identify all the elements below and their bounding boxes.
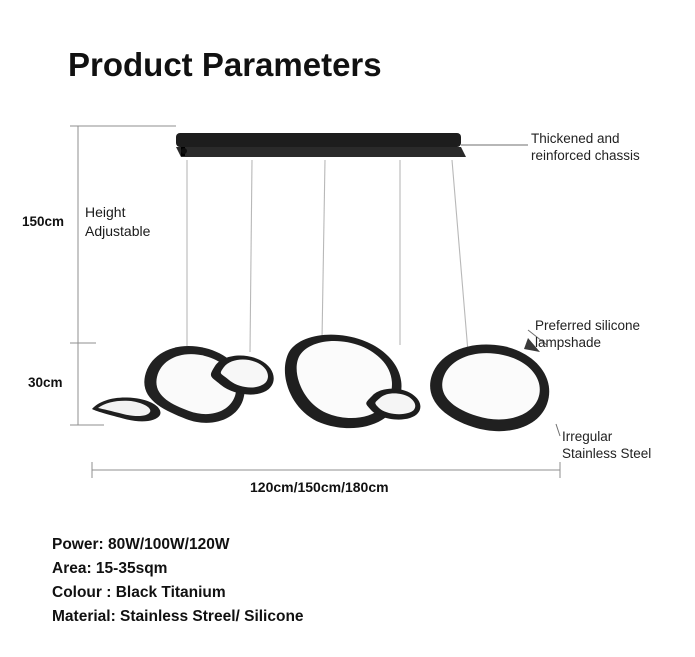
chassis-bar-underside <box>176 147 466 157</box>
spec-area: Area: 15-35sqm <box>52 557 652 581</box>
chassis-bolt <box>181 148 187 154</box>
spec-power: Power: 80W/100W/120W <box>52 533 652 557</box>
spec-colour: Colour : Black Titanium <box>52 581 652 605</box>
lamp-rings <box>92 335 549 432</box>
width-dimension <box>92 462 560 478</box>
height-lower-label: 30cm <box>28 375 63 390</box>
callout-stainless-label: Irregular Stainless Steel <box>562 428 651 462</box>
chassis-bar <box>176 133 461 147</box>
height-adjustable-label: Height Adjustable <box>85 203 150 241</box>
width-label: 120cm/150cm/180cm <box>250 479 389 495</box>
product-diagram: 150cm 30cm 120cm/150cm/180cm Height Adju… <box>0 0 695 520</box>
wire-5 <box>452 160 468 352</box>
ceiling-chassis <box>176 133 466 157</box>
wire-3 <box>322 160 325 340</box>
spec-material: Material: Stainless Streel/ Silicone <box>52 605 652 629</box>
height-upper-label: 150cm <box>22 214 64 229</box>
specs-list: Power: 80W/100W/120W Area: 15-35sqm Colo… <box>52 533 652 629</box>
leader-stainless <box>556 424 560 436</box>
product-parameters-page: Product Parameters <box>0 0 695 657</box>
callout-chassis-label: Thickened and reinforced chassis <box>531 130 640 164</box>
callout-lampshade-label: Preferred silicone lampshade <box>535 317 640 351</box>
wire-2 <box>250 160 252 352</box>
